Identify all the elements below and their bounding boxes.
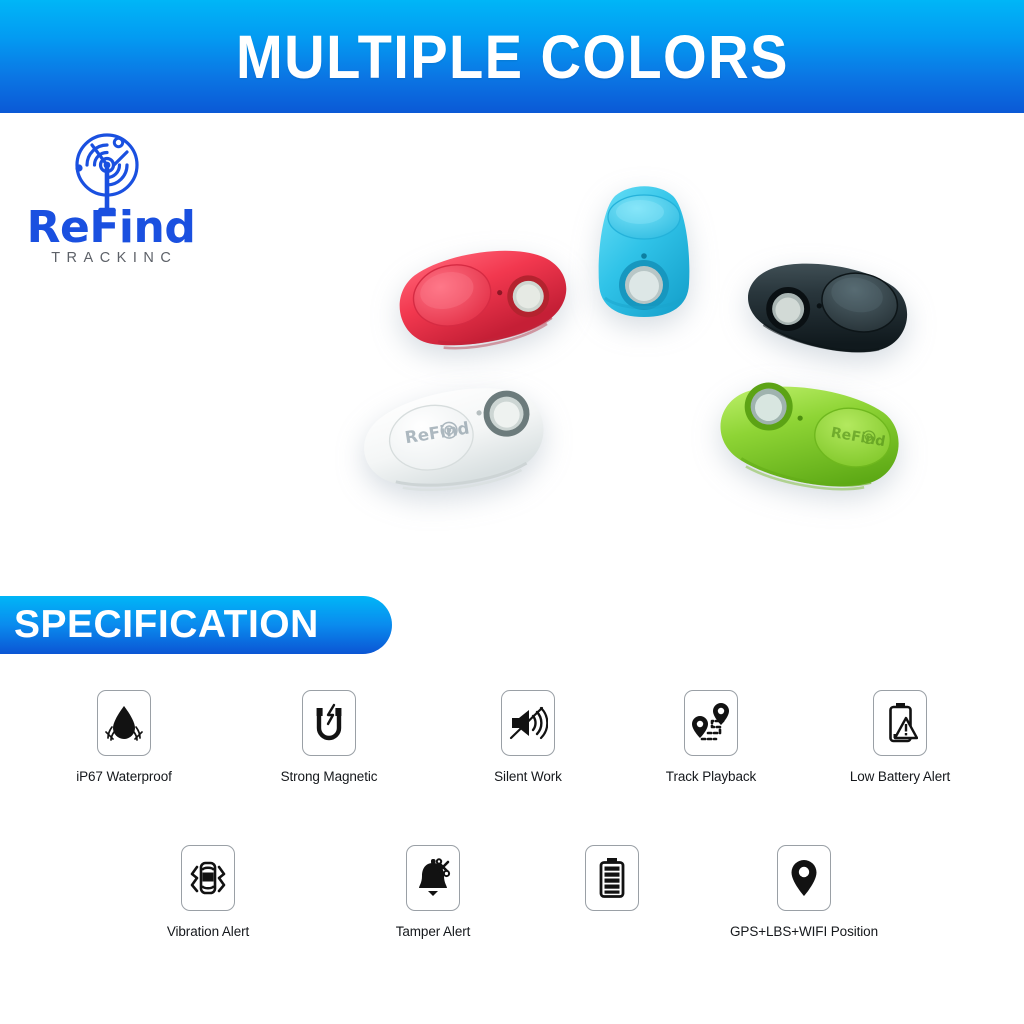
bell-tools-icon bbox=[406, 845, 460, 911]
feature-label: Strong Magnetic bbox=[281, 769, 378, 784]
feature-label: Track Playback bbox=[666, 769, 756, 784]
feature-label: Vibration Alert bbox=[167, 924, 249, 939]
product-fob-red bbox=[370, 246, 585, 356]
feature-low-battery-alert: Low Battery Alert bbox=[825, 690, 975, 784]
speaker-mute-icon bbox=[501, 690, 555, 756]
feature-battery-full bbox=[537, 845, 687, 924]
feature-row-1: iP67 Waterproof Strong Magnetic bbox=[0, 690, 1024, 845]
product-fob-white: ReFind bbox=[340, 378, 570, 503]
page-title: MULTIPLE COLORS bbox=[236, 22, 789, 92]
map-pin-icon bbox=[777, 845, 831, 911]
map-pins-route-icon bbox=[684, 690, 738, 756]
feature-label: GPS+LBS+WIFI Position bbox=[730, 924, 878, 939]
feature-label: Tamper Alert bbox=[396, 924, 471, 939]
product-fob-green: ReFind bbox=[702, 378, 917, 496]
product-fob-black bbox=[728, 256, 923, 361]
water-drop-icon bbox=[97, 690, 151, 756]
feature-tamper-alert: Tamper Alert bbox=[358, 845, 508, 939]
feature-label: iP67 Waterproof bbox=[76, 769, 172, 784]
product-infographic-page: MULTIPLE COLORS bbox=[0, 0, 1024, 1024]
battery-full-icon bbox=[585, 845, 639, 911]
specification-features: iP67 Waterproof Strong Magnetic bbox=[0, 690, 1024, 1000]
battery-warning-icon bbox=[873, 690, 927, 756]
feature-vibration-alert: Vibration Alert bbox=[133, 845, 283, 939]
feature-label: Silent Work bbox=[494, 769, 562, 784]
car-vibration-icon bbox=[181, 845, 235, 911]
specification-title: SPECIFICATION bbox=[0, 603, 319, 647]
product-fob-blue bbox=[585, 180, 703, 325]
feature-gps-lbs-wifi-position: GPS+LBS+WIFI Position bbox=[729, 845, 879, 939]
feature-ip67-waterproof: iP67 Waterproof bbox=[49, 690, 199, 784]
feature-strong-magnetic: Strong Magnetic bbox=[254, 690, 404, 784]
feature-silent-work: Silent Work bbox=[453, 690, 603, 784]
header-banner: MULTIPLE COLORS bbox=[0, 0, 1024, 113]
feature-track-playback: Track Playback bbox=[636, 690, 786, 784]
feature-label: Low Battery Alert bbox=[850, 769, 950, 784]
specification-section-banner: SPECIFICATION bbox=[0, 596, 392, 654]
product-photo-stage: ReFind bbox=[0, 118, 1024, 573]
magnet-icon bbox=[302, 690, 356, 756]
feature-row-2: Vibration Alert Tamper Alert bbox=[0, 845, 1024, 1000]
